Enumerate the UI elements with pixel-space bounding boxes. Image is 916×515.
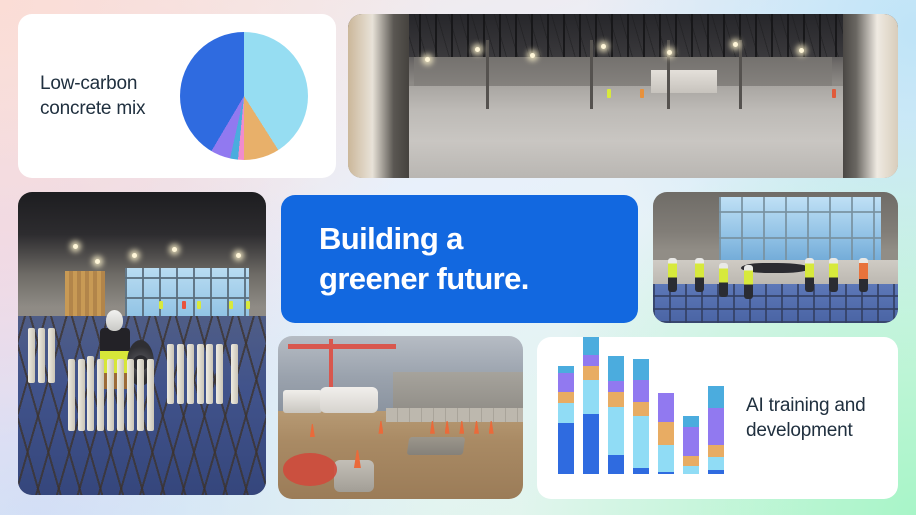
bar-column xyxy=(683,416,699,474)
block-retaining-wall xyxy=(386,408,523,423)
curtain-wall-window xyxy=(125,268,249,320)
concrete-pier xyxy=(216,344,223,405)
worker-figure xyxy=(719,263,728,297)
ceiling-light-icon xyxy=(236,253,241,258)
warehouse-right-wall xyxy=(843,14,898,178)
bar-segment-light-blue xyxy=(633,416,649,469)
photo-warehouse-interior-panorama xyxy=(348,14,898,178)
warehouse-floor xyxy=(348,86,898,178)
bar-segment-orange xyxy=(708,445,724,457)
collage-canvas: Low-carbon concrete mix xyxy=(0,0,916,515)
bar-segment-light-blue xyxy=(708,457,724,469)
bar-column xyxy=(608,356,624,474)
ai-training-card: AI training and development xyxy=(537,337,898,499)
bar-segment-medium-blue xyxy=(558,366,574,373)
bar-segment-medium-blue xyxy=(708,386,724,408)
ceiling-light-icon xyxy=(425,57,430,62)
bar-segment-orange xyxy=(558,392,574,403)
bar-segment-medium-blue xyxy=(583,337,599,355)
bar-segment-medium-blue xyxy=(683,416,699,427)
curtain-wall-glazing xyxy=(719,197,881,265)
red-hose-reel xyxy=(283,453,337,486)
concrete-pier xyxy=(127,359,134,432)
ceiling-light-icon xyxy=(132,253,137,258)
bar-segment-purple xyxy=(708,408,724,445)
roof-truss-icon xyxy=(403,14,843,57)
concrete-pier xyxy=(28,328,35,383)
bar-segment-royal-blue xyxy=(633,468,649,474)
worker-figure xyxy=(744,265,753,299)
worker-figure xyxy=(246,301,250,309)
pie-card-label-line2: concrete mix xyxy=(40,98,145,119)
worker-figure xyxy=(859,258,868,292)
pie-chart-wrapper xyxy=(180,32,308,160)
jobsite-scene xyxy=(278,336,523,499)
bar-segment-orange xyxy=(683,456,699,466)
foreground-worker-body xyxy=(100,328,130,389)
bar-segment-royal-blue xyxy=(583,414,599,474)
concrete-pier xyxy=(231,344,238,405)
ceiling-light-icon xyxy=(733,42,738,47)
pie-card-label-line1: Low-carbon xyxy=(40,73,137,94)
bar-segment-purple xyxy=(608,381,624,392)
bar-column xyxy=(633,359,649,474)
headline-line1: Building a xyxy=(319,221,463,256)
concrete-pier xyxy=(137,359,144,432)
bar-segment-purple xyxy=(658,393,674,422)
bar-segment-light-blue xyxy=(658,445,674,472)
concrete-pier xyxy=(197,344,204,405)
rebar-scene xyxy=(18,192,266,495)
concrete-pier xyxy=(206,344,213,405)
headline-card: Building a greener future. xyxy=(281,195,638,323)
warehouse-scene xyxy=(348,14,898,178)
photo-concrete-pour-crew xyxy=(653,192,898,323)
pour-scene xyxy=(653,192,898,323)
concrete-pier xyxy=(177,344,184,405)
bar-segment-medium-blue xyxy=(633,359,649,380)
bar-card-label-line2: development xyxy=(746,420,853,441)
ceiling-light-icon xyxy=(73,244,78,249)
worker-figure xyxy=(805,258,814,292)
headline-text: Building a greener future. xyxy=(281,219,529,298)
photo-rebar-deck-worker xyxy=(18,192,266,495)
hard-hat-icon xyxy=(106,310,123,331)
bar-segment-purple xyxy=(558,373,574,392)
precast-manhole-pipe xyxy=(334,460,373,493)
concrete-pier xyxy=(87,356,94,432)
bar-segment-royal-blue xyxy=(658,472,674,474)
worker-figure xyxy=(197,301,201,309)
bar-column xyxy=(708,386,724,474)
concrete-pier xyxy=(38,328,45,383)
bar-segment-medium-blue xyxy=(608,356,624,381)
worker-figure xyxy=(182,301,186,309)
concrete-pad xyxy=(407,437,466,455)
bar-segment-purple xyxy=(633,380,649,402)
concrete-pier xyxy=(117,359,124,432)
bar-column xyxy=(658,393,674,474)
bar-segment-light-blue xyxy=(608,407,624,455)
bar-card-label: AI training and development xyxy=(746,393,866,444)
bar-column xyxy=(558,366,574,474)
headline-line2: greener future. xyxy=(319,261,529,296)
concrete-pier xyxy=(187,344,194,405)
ceiling-light-icon xyxy=(530,53,535,58)
ceiling-light-icon xyxy=(475,47,480,52)
service-truck xyxy=(283,390,322,413)
warehouse-enclosure xyxy=(651,70,717,93)
low-carbon-concrete-card: Low-carbon concrete mix xyxy=(18,14,336,178)
ceiling-light-icon xyxy=(601,44,606,49)
worker-figure xyxy=(832,89,836,98)
worker-figure xyxy=(640,89,644,98)
bar-segment-light-blue xyxy=(683,466,699,474)
bar-card-label-line1: AI training and xyxy=(746,395,866,416)
bar-segment-orange xyxy=(608,392,624,407)
warehouse-column xyxy=(486,40,489,109)
worker-figure xyxy=(229,301,233,309)
pie-card-label: Low-carbon concrete mix xyxy=(18,71,176,121)
worker-figure xyxy=(829,258,838,292)
worker-figure xyxy=(668,258,677,292)
concrete-pier xyxy=(147,359,154,432)
concrete-pier xyxy=(97,359,104,432)
bar-segment-orange xyxy=(658,422,674,444)
bar-segment-orange xyxy=(583,366,599,379)
worker-figure xyxy=(607,89,611,98)
bar-column xyxy=(583,337,599,474)
bar-segment-light-blue xyxy=(583,380,599,414)
concrete-pier xyxy=(68,359,75,432)
tower-crane-jib-icon xyxy=(288,344,396,349)
bar-segment-purple xyxy=(683,427,699,456)
concrete-mixer-truck xyxy=(320,387,379,413)
photo-jobsite-crane-mixer xyxy=(278,336,523,499)
bar-segment-royal-blue xyxy=(708,470,724,474)
bar-segment-purple xyxy=(583,355,599,366)
ceiling-light-icon xyxy=(95,259,100,264)
warehouse-column xyxy=(590,40,593,109)
concrete-pier xyxy=(167,344,174,405)
pie-chart xyxy=(180,32,308,160)
bar-segment-orange xyxy=(633,402,649,415)
bar-segment-light-blue xyxy=(558,403,574,422)
concrete-pier xyxy=(48,328,55,383)
concrete-pier xyxy=(107,359,114,432)
wood-panel-wall xyxy=(65,271,105,319)
concrete-pier xyxy=(78,359,85,432)
worker-figure xyxy=(159,301,163,309)
warehouse-column xyxy=(739,40,742,109)
bar-segment-royal-blue xyxy=(608,455,624,474)
stacked-bar-chart xyxy=(558,362,724,474)
ceiling-light-icon xyxy=(172,247,177,252)
worker-figure xyxy=(695,258,704,292)
warehouse-left-wall xyxy=(348,14,409,178)
bar-segment-royal-blue xyxy=(558,423,574,475)
